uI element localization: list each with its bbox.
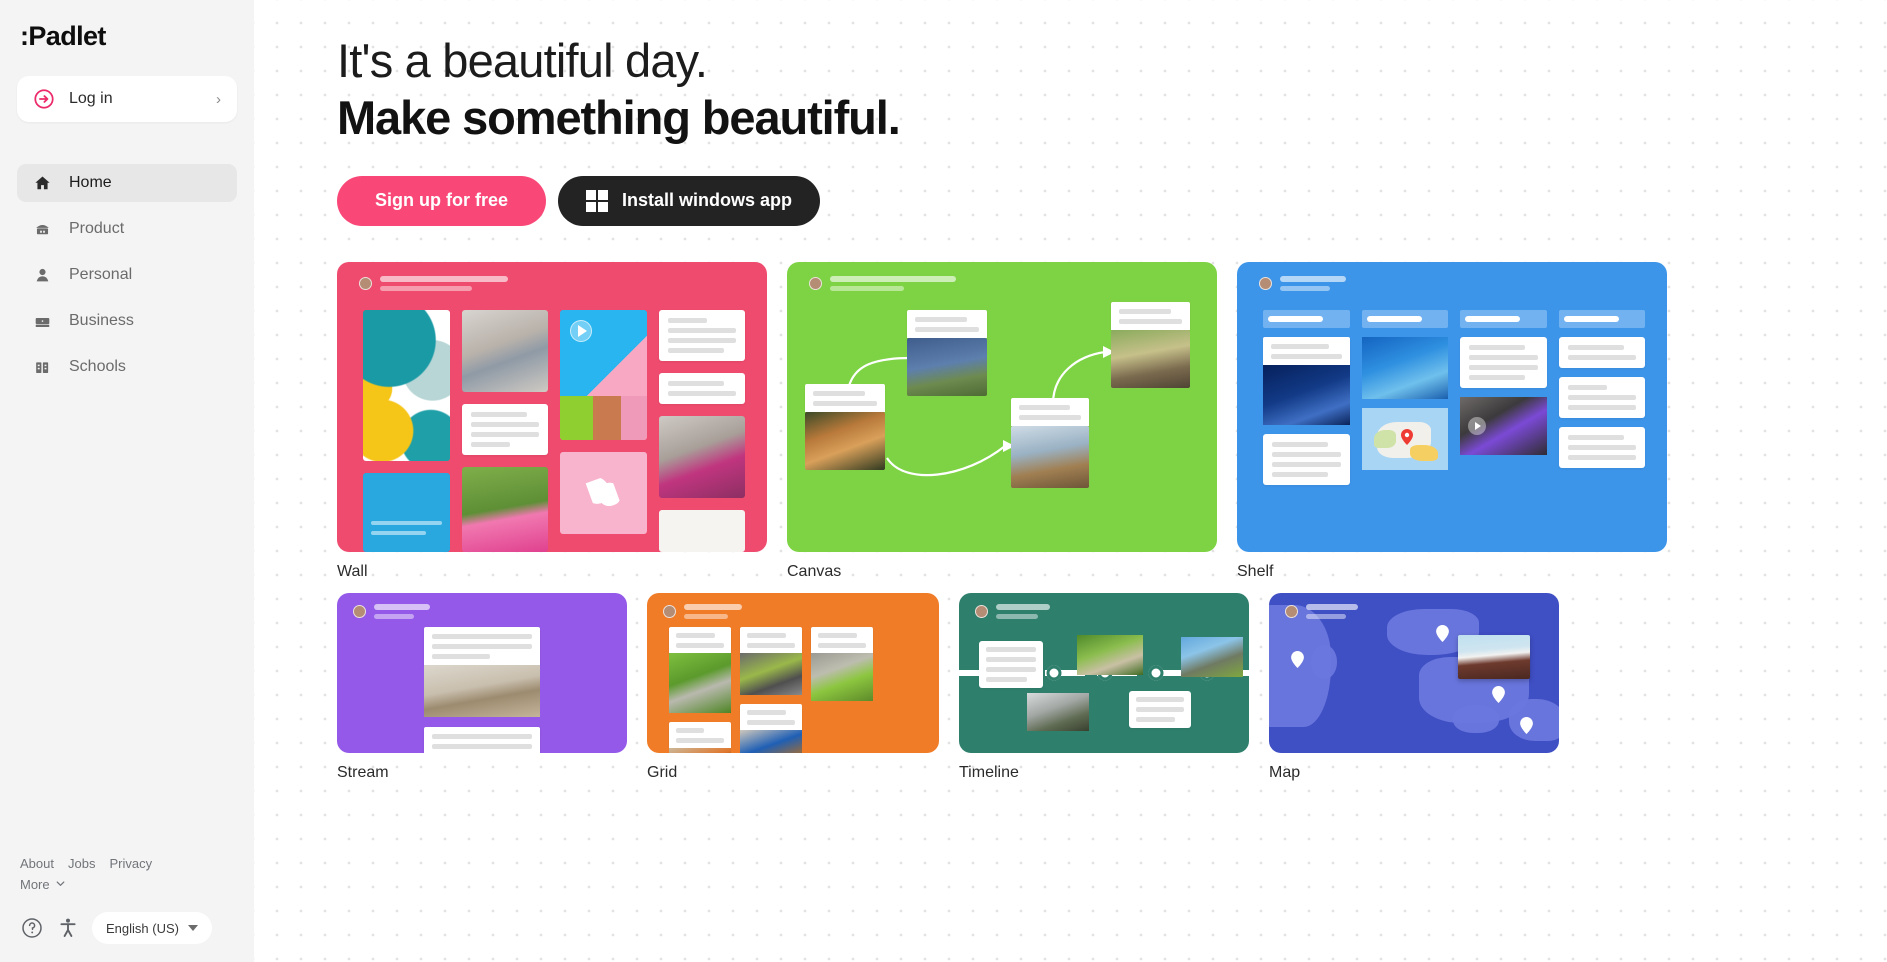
photo-bobcat [1011,426,1089,488]
grid-posts [669,627,923,753]
sidebar-item-business-label: Business [69,312,134,330]
footer-more-label: More [20,877,50,892]
template-label-wall: Wall [337,563,767,581]
photo-lizard [1077,635,1143,675]
hero-headline-bold: Make something beautiful. [337,91,1887,146]
padlet-home-page: :Padlet Log in › Home [0,0,1887,962]
photo-dinosaur-gray [1027,693,1089,731]
template-card-shelf[interactable]: Shelf [1237,262,1667,581]
padlet-logo[interactable]: :Padlet [20,23,106,50]
canvas-node-bobcat [1011,398,1089,488]
footer-link-about[interactable]: About [20,856,54,871]
template-row-2: Stream [337,593,1887,782]
chevron-down-icon [55,878,66,892]
photo-butterfly [669,748,731,753]
preview-header [1285,604,1358,619]
hero-headline-light: It's a beautiful day. [337,34,1887,89]
avatar [1259,277,1272,290]
play-icon [1468,417,1486,435]
photo-dinosaur-blue [1181,637,1243,677]
avatar [663,605,676,618]
map-pin-icon [1436,625,1449,642]
sidebar-item-home-label: Home [69,174,112,192]
photo-egg [669,653,731,713]
person-icon [31,264,53,286]
install-button-label: Install windows app [622,190,792,211]
footer-more-toggle[interactable]: More [20,877,254,892]
preview-header [975,604,1050,619]
avatar [809,277,822,290]
stream-post [424,627,540,717]
timeline-preview [959,593,1249,753]
title-placeholder [374,604,430,619]
shelf-column-header [1263,310,1350,328]
photo-jellyfish-dark [1263,365,1350,425]
chevron-right-icon: › [216,92,221,107]
template-label-shelf: Shelf [1237,563,1667,581]
sidebar-item-schools-label: Schools [69,358,126,376]
map-pin-icon [1401,429,1413,445]
title-placeholder [684,604,742,619]
canvas-preview [787,262,1217,552]
text-note-tile [1559,377,1646,418]
photo-child [740,730,802,753]
template-label-grid: Grid [647,764,939,782]
home-icon [31,172,53,194]
title-placeholder [1306,604,1358,619]
sidebar-item-home[interactable]: Home [17,164,237,202]
shelf-column-header [1460,310,1547,328]
timeline-text-card [1129,691,1191,728]
photo-camels [424,665,540,717]
product-icon [31,218,53,240]
preview-header [809,276,956,291]
landmass-island [1311,645,1337,679]
caret-down-icon [188,925,198,931]
grid-post [811,627,873,701]
title-placeholder [996,604,1050,619]
shelf-column [1263,310,1350,536]
language-selector[interactable]: English (US) [92,912,212,944]
blue-note-tile [363,473,450,552]
shelf-column [1559,310,1646,536]
footer-links: About Jobs Privacy [20,856,254,871]
grid-post [740,704,802,753]
cta-row: Sign up for free Install windows app [254,176,1887,226]
sidebar-nav: Home Product [0,164,254,394]
abstract-art-tile [363,310,450,461]
avatar [359,277,372,290]
photo-phone-video [1460,397,1547,455]
preview-header [663,604,742,619]
sidebar-item-product[interactable]: Product [17,210,237,248]
grid-post [740,627,802,695]
leaf-graphic-tile [560,452,647,534]
grid-column [669,627,731,753]
photo-mountain-cat [907,338,987,396]
landmass-new-zealand [1509,699,1559,741]
preview-header [353,604,430,619]
timeline-node [1047,665,1062,680]
wall-preview [337,262,767,552]
sidebar-item-personal[interactable]: Personal [17,256,237,294]
template-label-canvas: Canvas [787,563,1217,581]
template-gallery: Wall [254,226,1887,782]
shelf-column [1362,310,1449,536]
preview-header [1259,276,1346,291]
timeline-node [1149,665,1164,680]
stream-preview [337,593,627,753]
photo-yoga-tile [462,467,549,552]
windows-logo-icon [586,190,608,212]
sidebar: :Padlet Log in › Home [0,0,254,962]
template-card-wall[interactable]: Wall [337,262,767,581]
text-note-tile [659,373,746,404]
school-icon [31,356,53,378]
accessibility-icon[interactable] [56,916,80,940]
signup-button[interactable]: Sign up for free [337,176,546,226]
avatar [975,605,988,618]
photo-map-thumbnail [1362,408,1449,470]
sidebar-item-business[interactable]: Business [17,302,237,340]
photo-sneakers-tile [462,310,549,392]
video-tile [560,310,647,440]
title-placeholder [830,276,956,291]
photo-maine-coon [1111,330,1190,388]
preview-header [359,276,508,291]
canvas-node-mountain-cat [907,310,987,396]
sidebar-item-product-label: Product [69,220,124,238]
template-label-stream: Stream [337,764,627,782]
text-note-tile [1559,337,1646,368]
template-card-stream[interactable]: Stream [337,593,627,782]
grid-column [740,627,802,753]
footer-controls: English (US) [20,912,254,944]
template-card-canvas[interactable]: Canvas [787,262,1217,581]
help-circle-icon[interactable] [20,916,44,940]
template-card-grid[interactable]: Grid [647,593,939,782]
login-button[interactable]: Log in › [17,76,237,122]
avatar [353,605,366,618]
title-placeholder [380,276,508,291]
grid-column [811,627,873,701]
grid-post [669,722,731,753]
briefcase-icon [31,310,53,332]
map-preview [1269,593,1559,753]
timeline-text-card [979,641,1043,688]
sidebar-item-schools[interactable]: Schools [17,348,237,386]
avatar [1285,605,1298,618]
play-icon [578,325,587,337]
shelf-column [1460,310,1547,536]
language-label: English (US) [106,921,179,936]
template-row-1: Wall [337,262,1887,581]
canvas-node-maine-coon [1111,302,1190,388]
shelf-preview [1237,262,1667,552]
logo-container: :Padlet [0,0,254,56]
hero-section: It's a beautiful day. Make something bea… [254,0,1887,146]
stream-posts [424,627,540,753]
main-content: It's a beautiful day. Make something bea… [254,0,1887,962]
photo-caterpillar [740,653,802,695]
template-label-map: Map [1269,764,1559,782]
grid-post [669,627,731,713]
shelf-column-header [1559,310,1646,328]
sketch-tile [659,510,746,552]
arrow-right-circle-icon [33,88,55,110]
map-pin-icon [1291,651,1304,668]
photo-sydney-opera-house [1458,635,1530,679]
text-note-tile [1263,337,1350,365]
text-note-tile [659,310,746,361]
login-label: Log in [69,90,216,108]
photo-tiger [805,412,885,470]
shelf-column-header [1362,310,1449,328]
landmass-tasmania [1453,705,1499,733]
install-windows-app-button[interactable]: Install windows app [558,176,820,226]
map-pin-icon [1520,717,1533,734]
shelf-columns [1263,310,1645,536]
sidebar-footer: About Jobs Privacy More [0,856,254,962]
map-pin-icon [1492,686,1505,703]
photo-boots-tile [659,416,746,498]
sidebar-item-personal-label: Personal [69,266,132,284]
template-card-timeline[interactable]: Timeline [959,593,1249,782]
title-placeholder [1280,276,1346,291]
template-label-timeline: Timeline [959,764,1249,782]
grid-preview [647,593,939,753]
wall-columns [363,310,745,552]
photo-jellyfish-light [1362,337,1449,399]
template-card-map[interactable]: Map [1269,593,1559,782]
footer-link-privacy[interactable]: Privacy [109,856,152,871]
canvas-node-tiger [805,384,885,470]
photo-chrysalis [811,653,873,701]
text-note-tile [1460,337,1547,388]
text-note-tile [1263,434,1350,485]
footer-link-jobs[interactable]: Jobs [68,856,95,871]
stream-post [424,727,540,753]
text-note-tile [462,404,549,455]
text-note-tile [1559,427,1646,468]
